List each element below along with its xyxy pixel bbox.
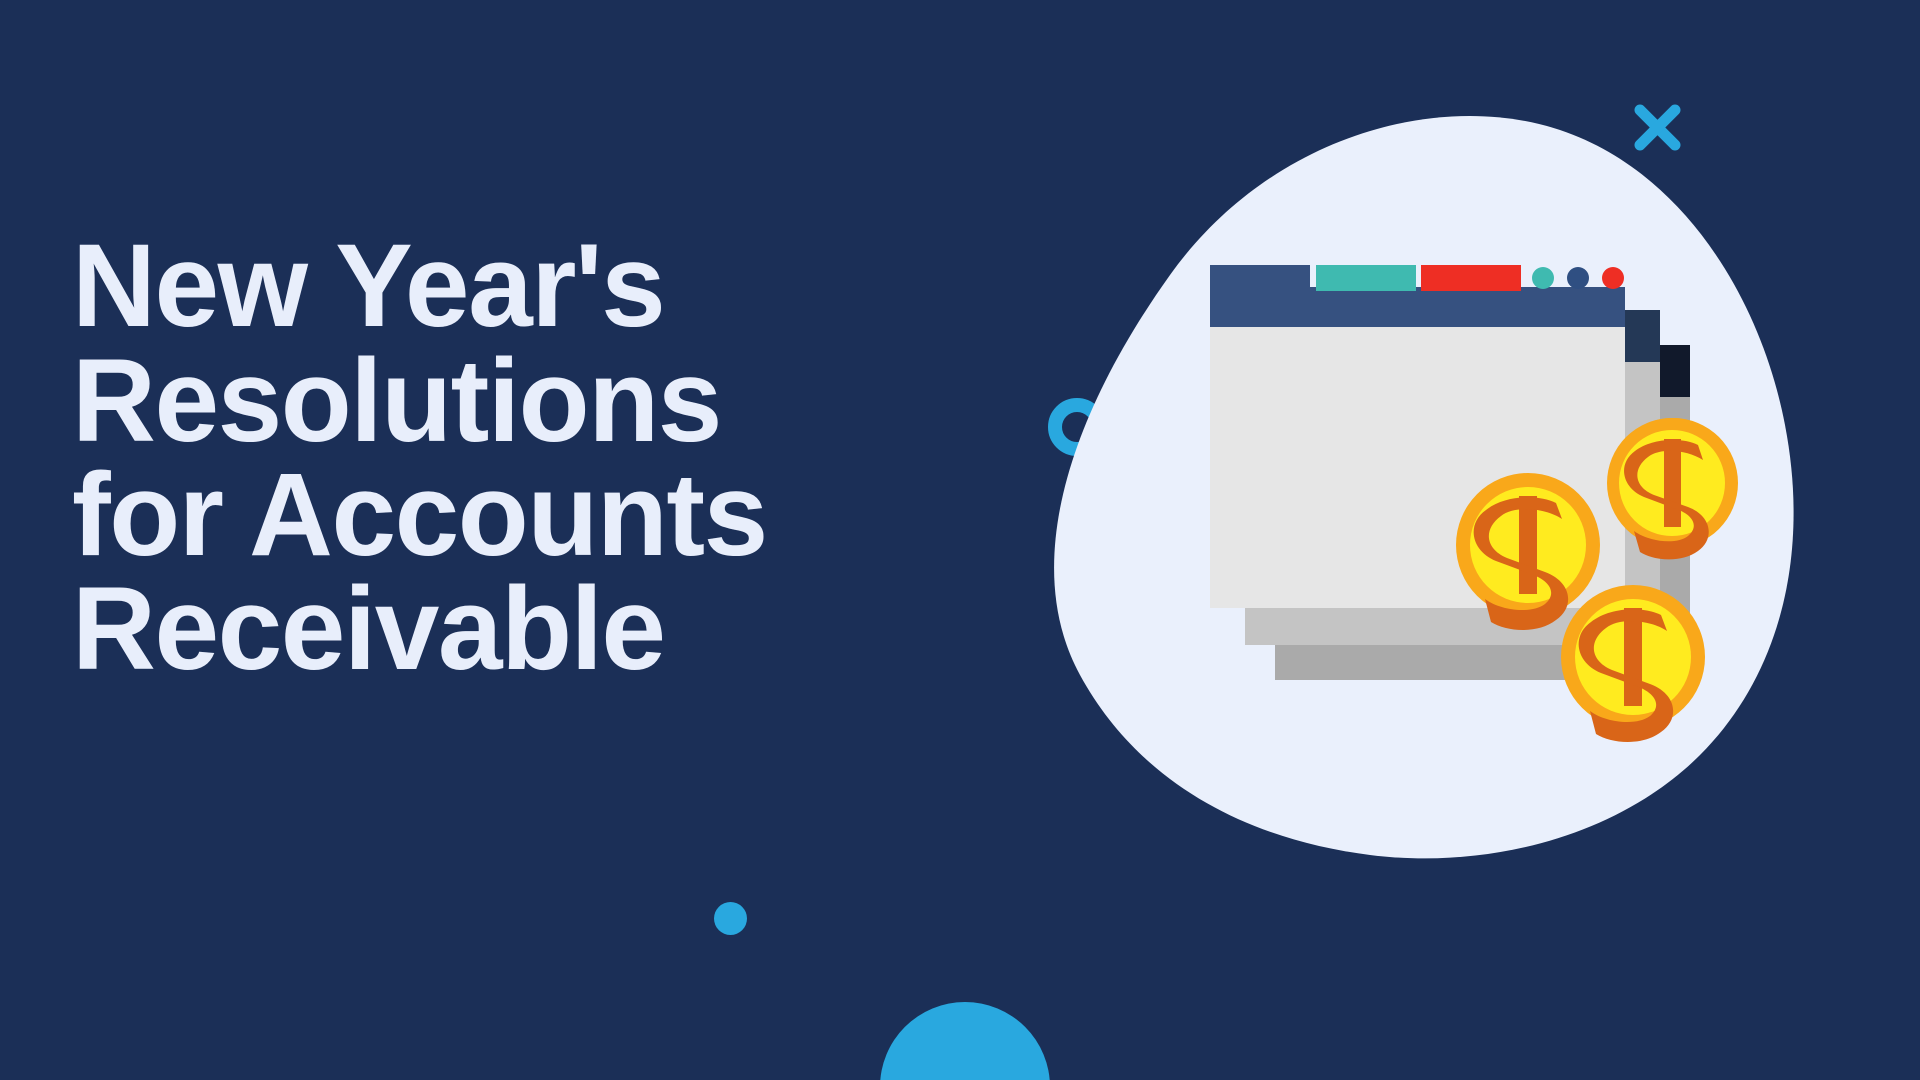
title-line-3: for Accounts	[72, 458, 1067, 572]
window-dot-teal[interactable]	[1532, 267, 1554, 289]
tab-2[interactable]	[1316, 265, 1416, 291]
tab-3[interactable]	[1421, 265, 1521, 291]
hero-illustration	[1020, 95, 1810, 955]
tab-1[interactable]	[1210, 265, 1310, 291]
title-line-1: New Year's	[72, 229, 1067, 343]
page-title: New Year's Resolutions for Accounts Rece…	[72, 229, 1082, 687]
large-dot-decoration	[880, 1002, 1050, 1080]
window-dot-red[interactable]	[1602, 267, 1624, 289]
window-front-titlebar	[1210, 287, 1625, 327]
title-line-4: Receivable	[72, 572, 1067, 686]
window-dot-navy[interactable]	[1567, 267, 1589, 289]
small-dot-decoration	[714, 902, 747, 935]
close-icon[interactable]	[1640, 110, 1675, 145]
title-line-2: Resolutions	[72, 344, 1067, 458]
slide-canvas: New Year's Resolutions for Accounts Rece…	[0, 0, 1920, 1080]
